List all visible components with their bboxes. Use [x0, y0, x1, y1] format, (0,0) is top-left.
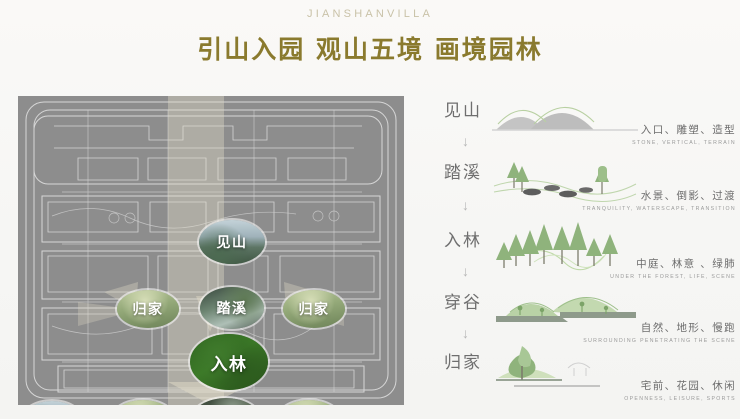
plan-badge-见山[interactable]: 见山 — [22, 401, 82, 405]
plan-badge-穿谷[interactable]: 穿谷 — [192, 398, 260, 405]
step-caption: 水景、倒影、过渡 TRANQUILITY, WATERSCAPE, TRANSI… — [526, 188, 736, 212]
sequence-step-5[interactable]: 归家 宅前、花园、休闲 OPENNESS, LEISURE, SPORTS — [430, 348, 740, 406]
caption-cn: 水景、倒影、过渡 — [526, 188, 736, 203]
caption-en: STONE, VERTICAL, TERRAIN — [526, 140, 736, 146]
mountain-photo — [22, 401, 82, 405]
step-caption: 入口、雕塑、造型 STONE, VERTICAL, TERRAIN — [526, 122, 736, 146]
sequence-step-1[interactable]: 见山 入口、雕塑、造型 STONE, VERTICAL, TERRAIN — [430, 96, 740, 154]
caption-cn: 入口、雕塑、造型 — [526, 122, 736, 137]
sequence-step-4[interactable]: 穿谷 自然、地形、慢跑 SURROUNDING PENETRATING THE … — [430, 288, 740, 346]
plan-badge-label: 踏溪 — [217, 298, 248, 318]
sequence-step-2[interactable]: 踏溪 水景、倒影、过渡 TRANQUILITY, WATERSCAPE, TRA… — [430, 158, 740, 216]
page-title: 引山入园 观山五境 画境园林 — [0, 30, 740, 66]
step-caption: 自然、地形、慢跑 SURROUNDING PENETRATING THE SCE… — [526, 320, 736, 344]
plan-badge-label: 归家 — [299, 299, 330, 319]
caption-en: TRANQUILITY, WATERSCAPE, TRANSITION — [526, 206, 736, 212]
home-garden-photo — [278, 400, 340, 405]
experience-sequence: 见山 入口、雕塑、造型 STONE, VERTICAL, TERRAIN ↓ 踏… — [430, 96, 740, 411]
site-plan[interactable]: 见山归家踏溪归家入林见山归家穿谷归家 — [18, 96, 404, 405]
plan-badge-label: 入林 — [211, 350, 248, 375]
brand-wordmark: JIANSHANVILLA — [0, 8, 740, 20]
caption-cn: 自然、地形、慢跑 — [526, 320, 736, 335]
plan-badge-入林[interactable]: 入林 — [190, 334, 268, 390]
step-caption: 宅前、花园、休闲 OPENNESS, LEISURE, SPORTS — [526, 378, 736, 402]
plan-badge-见山[interactable]: 见山 — [199, 220, 265, 264]
arrow-down-icon: ↓ — [462, 198, 469, 212]
plan-badge-归家[interactable]: 归家 — [117, 290, 179, 328]
home-garden-photo — [112, 400, 174, 405]
caption-en: UNDER THE FOREST, LIFE, SCENE — [526, 274, 736, 280]
valley-photo — [192, 398, 260, 405]
plan-badge-label: 见山 — [217, 232, 248, 252]
plan-badge-踏溪[interactable]: 踏溪 — [200, 287, 264, 329]
plan-badge-label: 归家 — [133, 299, 164, 319]
arrow-down-icon: ↓ — [462, 326, 469, 340]
plan-badge-归家[interactable]: 归家 — [283, 290, 345, 328]
plan-badge-归家[interactable]: 归家 — [278, 400, 340, 405]
sequence-step-3[interactable]: 入林 中庭、林意 — [430, 226, 740, 284]
caption-en: OPENNESS, LEISURE, SPORTS — [526, 396, 736, 402]
caption-cn: 宅前、花园、休闲 — [526, 378, 736, 393]
arrow-down-icon: ↓ — [462, 264, 469, 278]
caption-cn: 中庭、林意 、绿肺 — [526, 256, 736, 271]
step-caption: 中庭、林意 、绿肺 UNDER THE FOREST, LIFE, SCENE — [526, 256, 736, 280]
slide-root: JIANSHANVILLA 引山入园 观山五境 画境园林 — [0, 0, 740, 419]
plan-badge-归家[interactable]: 归家 — [112, 400, 174, 405]
arrow-down-icon: ↓ — [462, 134, 469, 148]
